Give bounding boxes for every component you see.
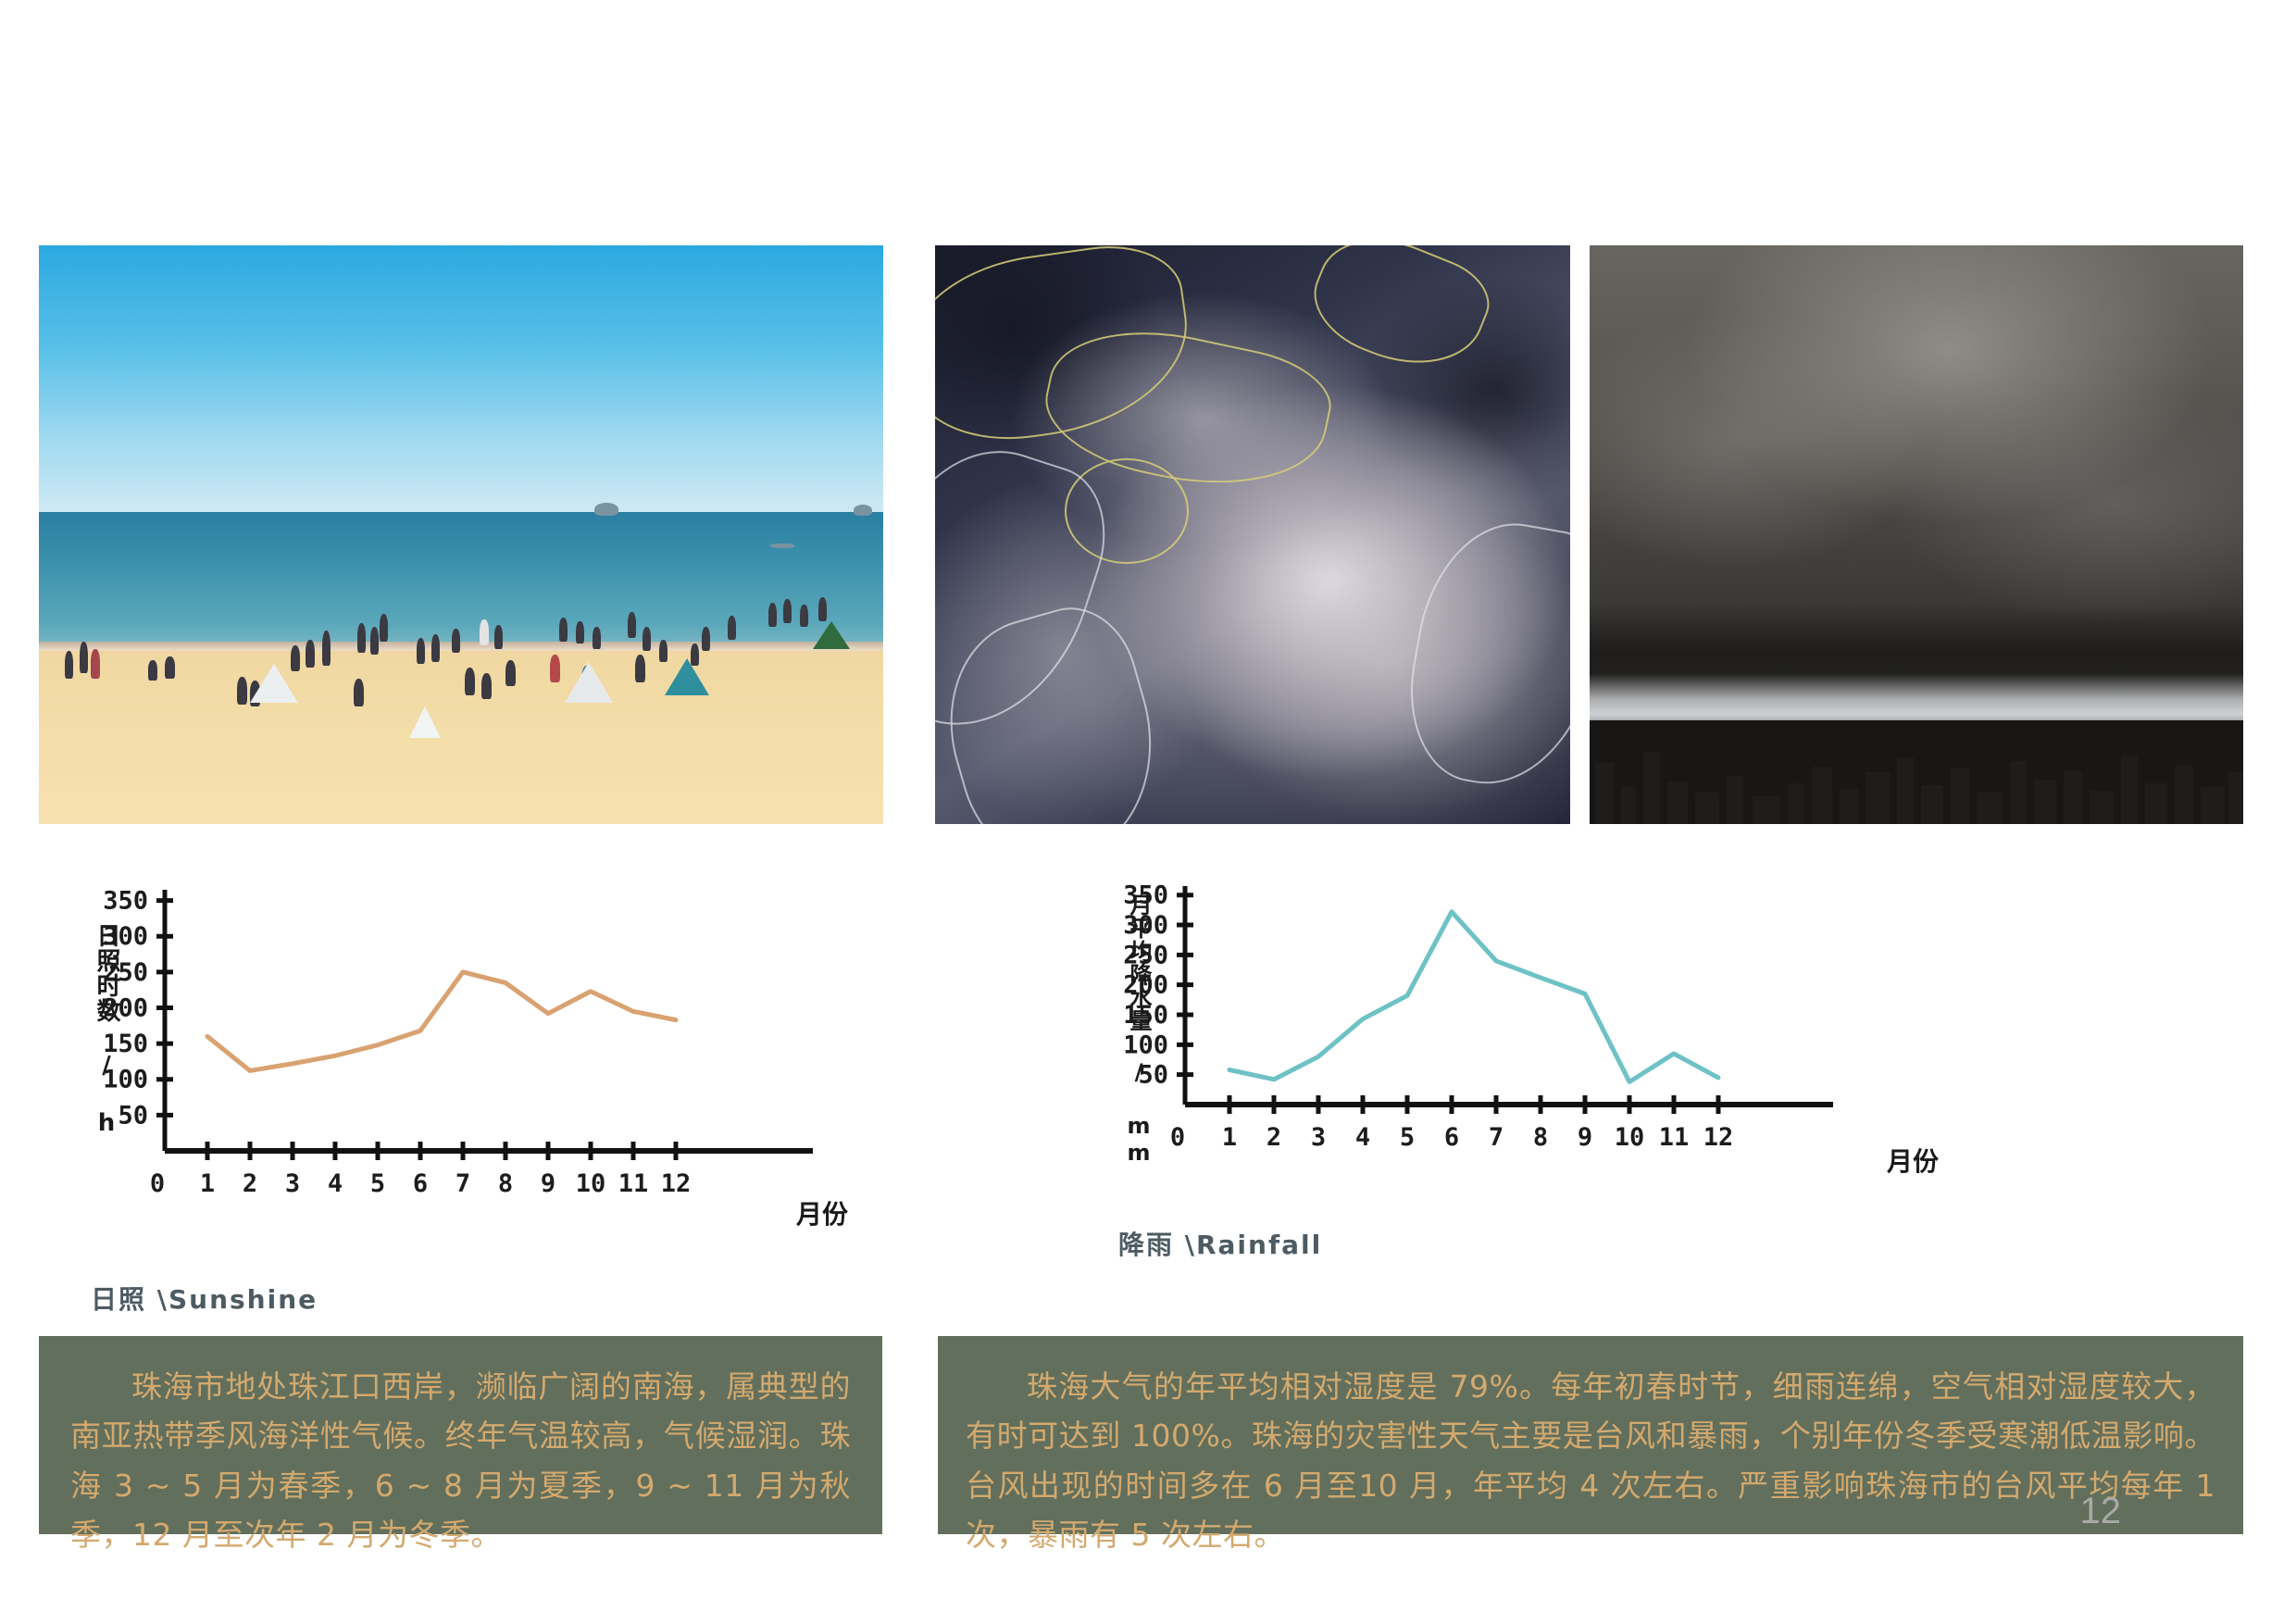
rainfall-x-axis-label: 月份 <box>1887 1142 1939 1179</box>
beach-photo <box>39 245 883 824</box>
beach-figure <box>370 627 379 655</box>
beach-figure <box>768 603 777 627</box>
svg-text:2: 2 <box>1267 1123 1281 1152</box>
svg-text:4: 4 <box>1355 1123 1370 1152</box>
beach-figure <box>635 655 645 682</box>
storm-clouds-photo <box>1590 245 2243 824</box>
building <box>1865 772 1890 824</box>
beach-figure <box>481 673 492 699</box>
beach-figure <box>148 660 157 681</box>
beach-figure <box>593 627 601 649</box>
sunshine-plot: 501001502002503003501234567891011120 <box>56 875 889 1264</box>
building <box>1667 781 1688 824</box>
beach-figure <box>505 660 516 686</box>
beach-figure <box>357 623 366 653</box>
svg-text:5: 5 <box>370 1169 385 1198</box>
beach-figure <box>818 597 827 621</box>
beach-figure <box>728 616 736 640</box>
left-panel-text: 珠海市地处珠江口西岸，濒临广阔的南海，属典型的南亚热带季风海洋性气候。终年气温较… <box>70 1362 851 1560</box>
svg-text:1: 1 <box>200 1169 215 1198</box>
svg-text:3: 3 <box>285 1169 300 1198</box>
beach-figure <box>576 621 584 643</box>
svg-text:1: 1 <box>1222 1123 1237 1152</box>
tent-icon <box>409 706 441 738</box>
beach-figure <box>431 634 440 662</box>
building <box>1840 789 1858 824</box>
svg-text:350: 350 <box>1123 881 1168 910</box>
svg-text:150: 150 <box>103 1030 148 1058</box>
sunshine-x-axis-label: 月份 <box>796 1194 848 1231</box>
beach-figure <box>237 677 247 705</box>
building <box>2090 791 2114 824</box>
beach-figure <box>65 651 73 679</box>
beach-figure <box>465 668 475 695</box>
svg-text:350: 350 <box>103 887 148 916</box>
svg-text:10: 10 <box>576 1169 606 1198</box>
svg-text:100: 100 <box>1123 1031 1168 1059</box>
beach-figure <box>380 614 388 642</box>
beach-figure <box>322 631 331 666</box>
svg-text:200: 200 <box>1123 971 1168 1000</box>
beach-figure <box>800 605 808 627</box>
beach-figure <box>91 649 100 679</box>
beach-figure <box>494 625 503 649</box>
building <box>1951 768 1969 824</box>
tent-icon <box>565 662 613 703</box>
svg-text:250: 250 <box>103 958 148 987</box>
page-number: 12 <box>2080 1491 2122 1532</box>
rainfall-chart: 月平均降水量 / mm 5010015020025030035012345678… <box>1092 875 2000 1264</box>
svg-text:2: 2 <box>243 1169 257 1198</box>
coastline-outline <box>1299 245 1500 388</box>
svg-text:50: 50 <box>1138 1061 1168 1090</box>
svg-text:250: 250 <box>1123 941 1168 969</box>
sunshine-caption: 日照 \Sunshine <box>91 1280 318 1317</box>
svg-text:8: 8 <box>498 1169 513 1198</box>
coastline-outline <box>1395 509 1570 799</box>
svg-text:0: 0 <box>1170 1123 1185 1152</box>
beach-figure <box>354 679 364 706</box>
tent-icon <box>665 658 709 695</box>
svg-text:7: 7 <box>455 1169 470 1198</box>
building <box>2064 770 2082 824</box>
building <box>1753 796 1780 824</box>
rainfall-caption: 降雨 \Rainfall <box>1118 1225 1322 1262</box>
beach-figure <box>783 599 792 623</box>
building <box>1812 767 1832 824</box>
building <box>1921 785 1943 824</box>
svg-text:0: 0 <box>150 1169 165 1198</box>
beach-figure <box>306 640 315 668</box>
beach-sky <box>39 245 883 512</box>
svg-text:12: 12 <box>1703 1123 1734 1152</box>
building <box>1643 752 1660 824</box>
svg-text:10: 10 <box>1615 1123 1645 1152</box>
svg-text:6: 6 <box>1444 1123 1459 1152</box>
sunshine-chart: 日照时数 / h 5010015020025030035012345678910… <box>56 875 889 1264</box>
building <box>1727 776 1743 824</box>
svg-text:300: 300 <box>1123 911 1168 940</box>
building <box>2034 780 2056 824</box>
beach-figure <box>550 655 560 682</box>
svg-text:100: 100 <box>103 1066 148 1094</box>
tent-icon <box>813 621 850 649</box>
islet-icon <box>594 503 618 516</box>
svg-text:50: 50 <box>118 1101 148 1130</box>
svg-text:300: 300 <box>103 922 148 951</box>
building <box>2201 787 2225 824</box>
city-skyline <box>1590 720 2243 825</box>
svg-text:200: 200 <box>103 993 148 1022</box>
building <box>2228 772 2243 824</box>
svg-text:9: 9 <box>541 1169 555 1198</box>
svg-text:150: 150 <box>1123 1001 1168 1030</box>
boat-icon <box>770 543 794 548</box>
building <box>2121 756 2138 824</box>
beach-figure <box>480 619 489 645</box>
beach-figure <box>702 627 710 651</box>
svg-text:8: 8 <box>1533 1123 1548 1152</box>
svg-text:4: 4 <box>328 1169 343 1198</box>
svg-text:12: 12 <box>661 1169 692 1198</box>
beach-figure <box>452 629 460 653</box>
tent-icon <box>250 664 298 703</box>
svg-text:11: 11 <box>618 1169 649 1198</box>
right-text-panel: 珠海大气的年平均相对湿度是 79%。每年初春时节，细雨连绵，空气相对湿度较大，有… <box>938 1336 2243 1534</box>
right-panel-text: 珠海大气的年平均相对湿度是 79%。每年初春时节，细雨连绵，空气相对湿度较大，有… <box>966 1362 2215 1560</box>
svg-text:3: 3 <box>1311 1123 1326 1152</box>
satellite-typhoon-photo <box>935 245 1570 824</box>
building <box>1977 793 2003 824</box>
building <box>2010 761 2027 824</box>
beach-figure <box>559 618 568 642</box>
building <box>2145 783 2167 824</box>
left-text-panel: 珠海市地处珠江口西岸，濒临广阔的南海，属典型的南亚热带季风海洋性气候。终年气温较… <box>39 1336 882 1534</box>
building <box>1595 763 1614 824</box>
building <box>1788 783 1804 824</box>
beach-figure <box>165 656 175 679</box>
svg-text:7: 7 <box>1489 1123 1504 1152</box>
beach-figure <box>643 627 651 651</box>
building <box>1621 787 1636 824</box>
svg-text:6: 6 <box>413 1169 428 1198</box>
beach-figure <box>628 612 636 638</box>
building <box>1897 757 1914 824</box>
beach-figure <box>80 642 88 673</box>
svg-text:5: 5 <box>1400 1123 1415 1152</box>
building <box>1695 793 1719 824</box>
rainfall-plot: 501001502002503003501234567891011120 <box>1092 875 2000 1264</box>
svg-text:9: 9 <box>1578 1123 1592 1152</box>
islet-icon <box>854 505 872 516</box>
beach-sea <box>39 512 883 651</box>
svg-text:11: 11 <box>1659 1123 1690 1152</box>
building <box>2175 765 2193 824</box>
beach-figure <box>417 638 425 664</box>
